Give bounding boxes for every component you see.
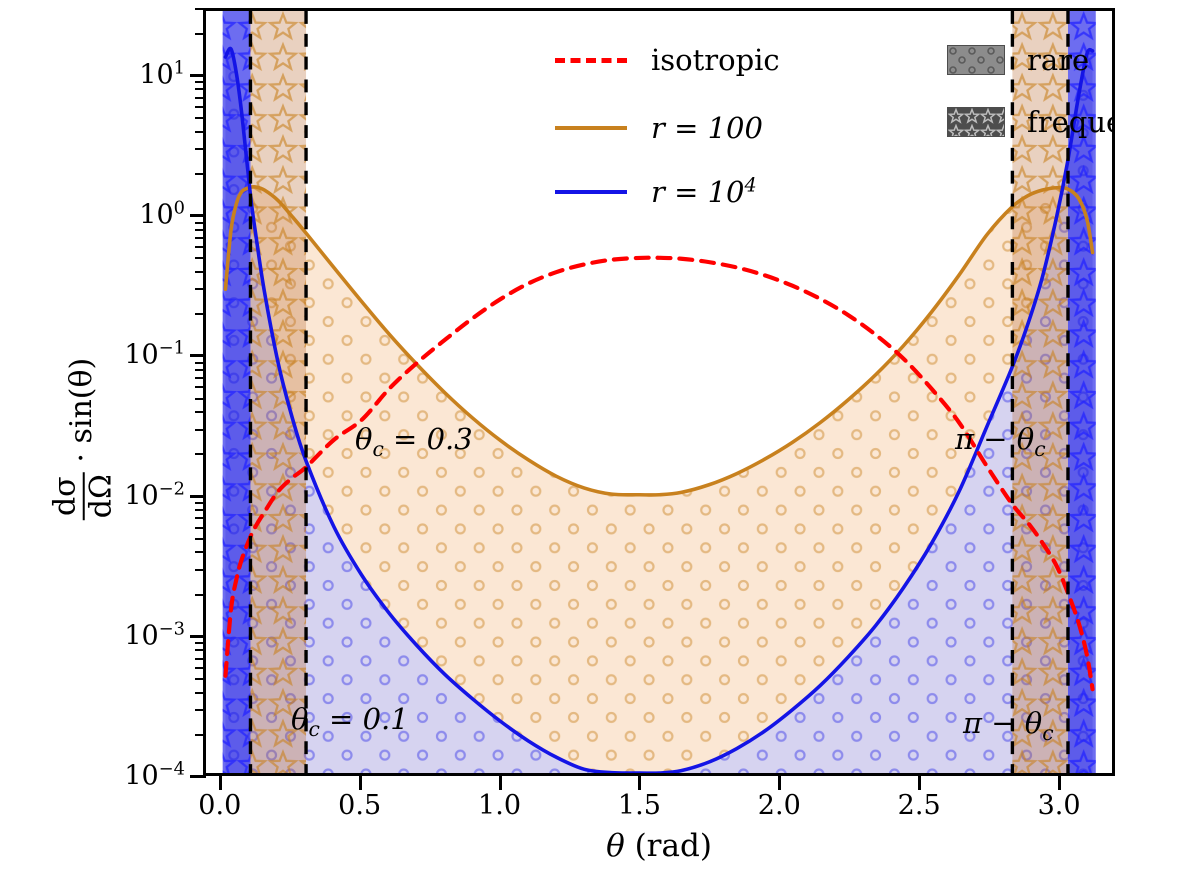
x-tick-mark — [1058, 776, 1061, 790]
legend-label-rare: rare — [1027, 43, 1089, 77]
legend-swatch-isotropic-line — [555, 58, 627, 63]
y-tick-label: 100 — [139, 200, 185, 231]
legend: isotropic r = 100 r = 104 rare frequent — [555, 33, 1115, 218]
legend-swatch-r1e4-line — [555, 190, 627, 194]
x-tick-mark — [638, 776, 641, 790]
y-axis-sin: sin(θ) — [64, 358, 99, 444]
y-axis-numerator: dσ — [50, 472, 85, 520]
y-tick-label: 10−3 — [124, 620, 185, 651]
x-tick-mark — [359, 776, 362, 790]
y-tick-label: 10−1 — [124, 340, 185, 371]
y-axis-dot: · — [64, 444, 99, 473]
legend-label-r1e4: r = 104 — [651, 175, 757, 209]
x-axis-label: θ (rad) — [203, 828, 1115, 864]
x-tick-mark — [778, 776, 781, 790]
x-tick-label: 3.0 — [1038, 790, 1081, 821]
plot-annotation: π − θc — [955, 422, 1046, 461]
x-tick-mark — [918, 776, 921, 790]
figure-canvas: dσ dΩ · sin(θ) 0.00.51.01.52.02.53.01011… — [0, 0, 1200, 878]
x-tick-mark — [219, 776, 222, 790]
x-tick-label: 1.5 — [618, 790, 661, 821]
shaded-band-hatch-rare — [250, 11, 306, 773]
x-axis-unit: (rad) — [625, 828, 712, 864]
legend-item-r100[interactable]: r = 100 — [555, 111, 763, 145]
legend-item-rare[interactable]: rare — [947, 43, 1089, 77]
legend-swatch-r100-line — [555, 126, 627, 130]
x-tick-label: 2.5 — [898, 790, 941, 821]
y-tick-label: 101 — [139, 59, 185, 90]
y-axis-fraction: dσ dΩ — [50, 472, 117, 520]
legend-item-isotropic[interactable]: isotropic — [555, 43, 780, 77]
plot-area: θc = 0.3π − θcθc = 0.1π − θc isotropic r… — [203, 8, 1115, 776]
y-axis-label: dσ dΩ · sin(θ) — [50, 358, 117, 520]
legend-item-frequent[interactable]: frequent — [947, 105, 1115, 139]
plot-annotation: θc = 0.3 — [355, 422, 473, 461]
plot-annotation: θc = 0.1 — [291, 702, 409, 741]
legend-label-r1e4-exponent: 4 — [745, 173, 757, 196]
x-axis-theta-symbol: θ — [606, 828, 625, 864]
legend-label-frequent: frequent — [1027, 105, 1115, 139]
x-tick-label: 0.5 — [338, 790, 381, 821]
legend-label-r100: r = 100 — [651, 111, 763, 145]
x-tick-mark — [499, 776, 502, 790]
plot-annotation: π − θc — [963, 706, 1054, 745]
y-tick-label: 10−4 — [124, 761, 185, 792]
legend-swatch-frequent-patch — [947, 107, 1005, 137]
x-tick-label: 0.0 — [198, 790, 241, 821]
x-tick-label: 1.0 — [478, 790, 521, 821]
legend-item-r1e4[interactable]: r = 104 — [555, 175, 757, 209]
shaded-band-hatch-frequent — [223, 11, 251, 773]
y-axis-denominator: dΩ — [84, 472, 117, 520]
y-tick-label: 10−2 — [124, 480, 185, 511]
legend-swatch-rare-patch — [947, 45, 1005, 75]
x-tick-label: 2.0 — [758, 790, 801, 821]
legend-label-isotropic: isotropic — [651, 43, 780, 77]
